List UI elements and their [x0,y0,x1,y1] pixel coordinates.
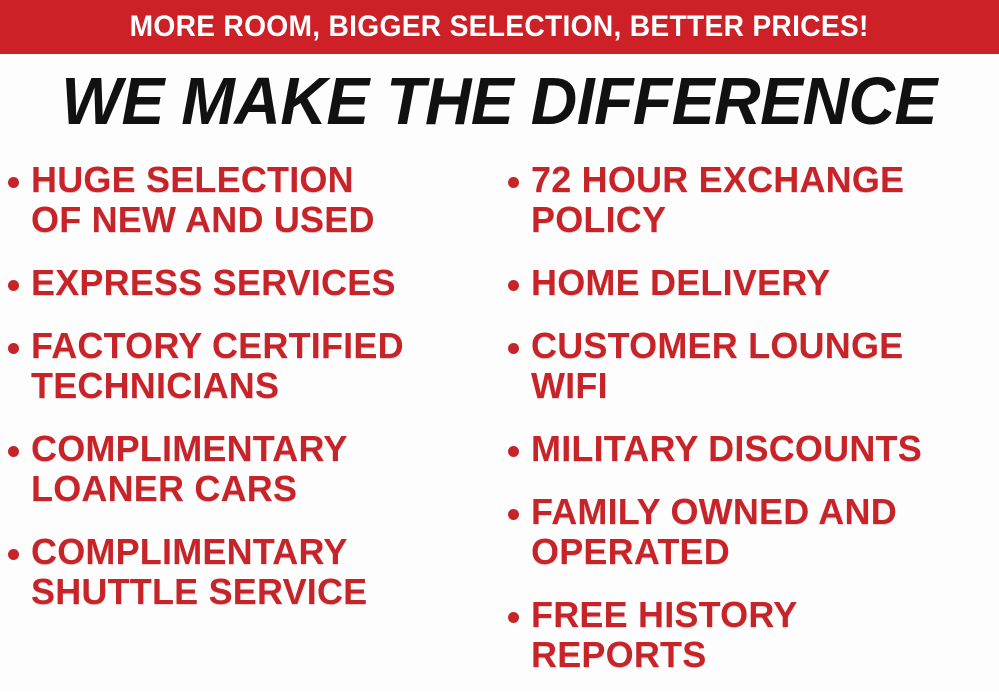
benefits-columns: HUGE SELECTION OF NEW AND USED EXPRESS S… [0,160,999,692]
banner-headline-text: MORE ROOM, BIGGER SELECTION, BETTER PRIC… [130,12,869,42]
bullet-dot-icon [508,612,519,623]
list-item: MILITARY DISCOUNTS [508,429,999,469]
bullet-dot-icon [8,280,19,291]
bullet-dot-icon [8,343,19,354]
list-item: COMPLIMENTARY SHUTTLE SERVICE [8,532,500,612]
list-item: HUGE SELECTION OF NEW AND USED [8,160,500,240]
list-item: FREE HISTORY REPORTS [508,595,999,675]
list-item-label: CUSTOMER LOUNGE WIFI [531,326,999,406]
list-item: 72 HOUR EXCHANGE POLICY [508,160,999,240]
list-item: HOME DELIVERY [508,263,999,303]
main-headline: WE MAKE THE DIFFERENCE [0,68,999,136]
list-item-label: 72 HOUR EXCHANGE POLICY [531,160,999,240]
list-item: CUSTOMER LOUNGE WIFI [508,326,999,406]
bullet-dot-icon [508,280,519,291]
bullet-dot-icon [8,177,19,188]
list-item-label: COMPLIMENTARY SHUTTLE SERVICE [31,532,500,612]
bullet-dot-icon [508,509,519,520]
list-item-label: MILITARY DISCOUNTS [531,429,999,469]
bullet-dot-icon [508,343,519,354]
promotional-poster: MORE ROOM, BIGGER SELECTION, BETTER PRIC… [0,0,999,692]
list-item-label: FREE HISTORY REPORTS [531,595,999,675]
bullet-dot-icon [8,446,19,457]
list-item-label: FAMILY OWNED AND OPERATED [531,492,999,572]
list-item-label: EXPRESS SERVICES [31,263,500,303]
list-item-label: HUGE SELECTION OF NEW AND USED [31,160,500,240]
list-item: FACTORY CERTIFIED TECHNICIANS [8,326,500,406]
top-banner: MORE ROOM, BIGGER SELECTION, BETTER PRIC… [0,0,999,54]
headline-text: WE MAKE THE DIFFERENCE [62,68,938,136]
list-item-label: FACTORY CERTIFIED TECHNICIANS [31,326,500,406]
bullet-dot-icon [8,549,19,560]
bullet-dot-icon [508,446,519,457]
list-item-label: COMPLIMENTARY LOANER CARS [31,429,500,509]
list-item-label: HOME DELIVERY [531,263,999,303]
list-item: EXPRESS SERVICES [8,263,500,303]
benefits-column-left: HUGE SELECTION OF NEW AND USED EXPRESS S… [8,160,500,635]
benefits-column-right: 72 HOUR EXCHANGE POLICY HOME DELIVERY CU… [508,160,999,698]
list-item: FAMILY OWNED AND OPERATED [508,492,999,572]
list-item: COMPLIMENTARY LOANER CARS [8,429,500,509]
bullet-dot-icon [508,177,519,188]
